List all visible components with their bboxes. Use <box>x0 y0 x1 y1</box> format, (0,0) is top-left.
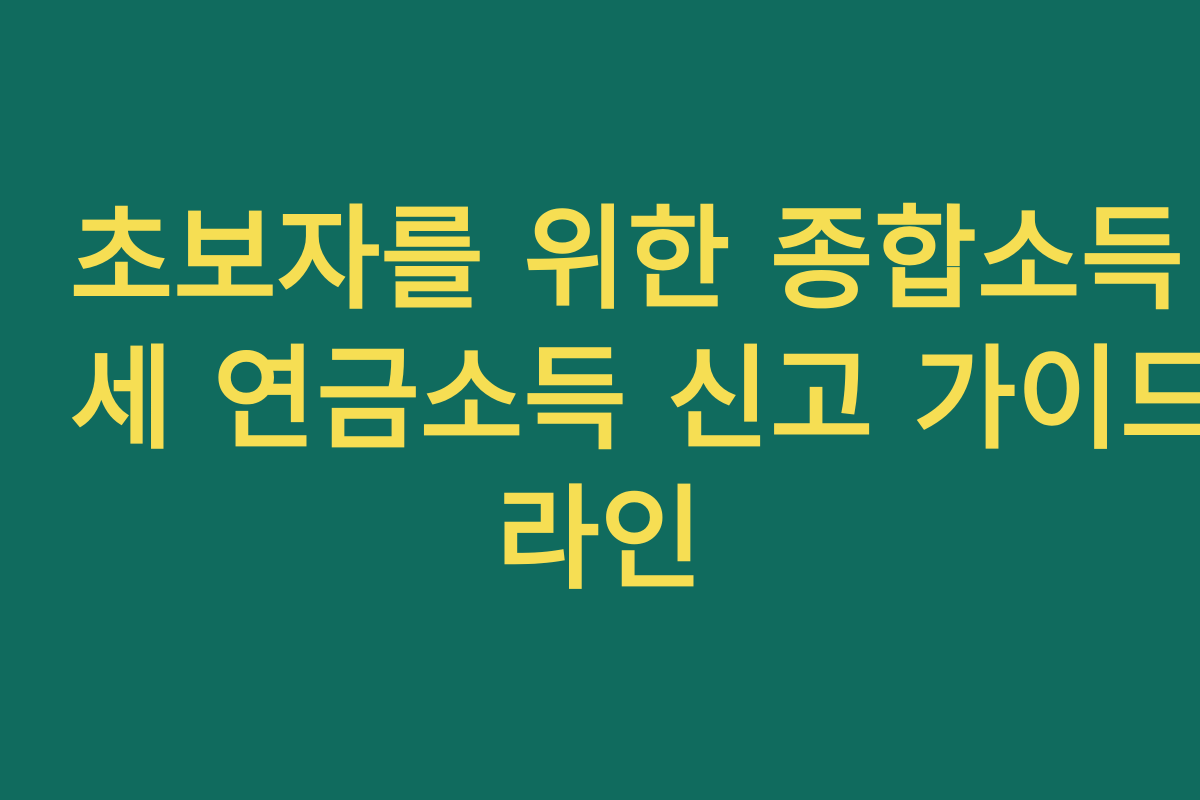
page-title: 초보자를 위한 종합소득 세 연금소득 신고 가이드 라인 <box>70 190 1130 610</box>
title-banner: 초보자를 위한 종합소득 세 연금소득 신고 가이드 라인 <box>0 0 1200 800</box>
title-line-1: 초보자를 위한 종합소득 <box>70 190 1130 330</box>
title-line-3: 라인 <box>70 470 1130 610</box>
title-line-2: 세 연금소득 신고 가이드 <box>70 330 1130 470</box>
